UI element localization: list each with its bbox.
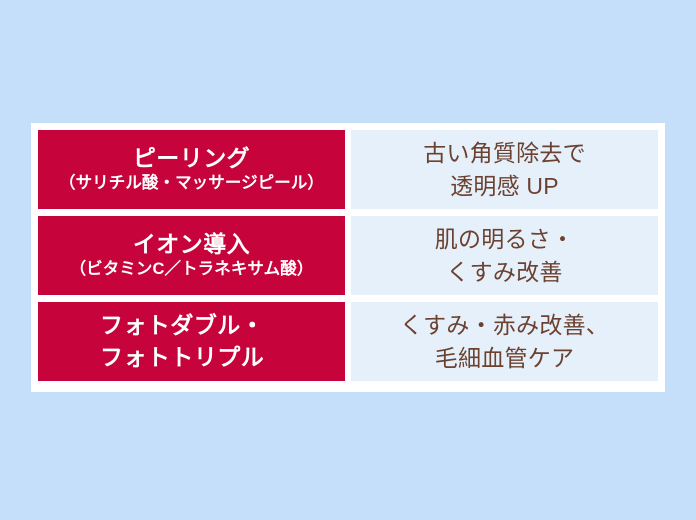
table-row: フォトダブル・ フォトトリプル くすみ・赤み改善、 毛細血管ケア	[38, 302, 658, 381]
treatment-name-main: イオン導入	[133, 230, 250, 258]
treatment-effect-cell: くすみ・赤み改善、 毛細血管ケア	[351, 302, 658, 381]
effect-line-2: 透明感 UP	[450, 170, 559, 203]
treatment-effect-cell: 肌の明るさ・ くすみ改善	[351, 216, 658, 295]
effect-line-1: くすみ・赤み改善、	[400, 309, 609, 342]
effect-line-2: くすみ改善	[446, 256, 562, 289]
treatment-name-sub: フォトトリプル	[100, 342, 264, 374]
table-row: ピーリング （サリチル酸・マッサージピール） 古い角質除去で 透明感 UP	[38, 130, 658, 209]
treatment-name-cell: フォトダブル・ フォトトリプル	[38, 302, 345, 381]
page-root: ピーリング （サリチル酸・マッサージピール） 古い角質除去で 透明感 UP イオ…	[0, 0, 696, 520]
treatment-effect-cell: 古い角質除去で 透明感 UP	[351, 130, 658, 209]
treatment-name-main: フォトダブル・	[100, 310, 264, 342]
treatment-name-sub: （ビタミンC／トラネキサム酸）	[70, 259, 314, 280]
effect-line-1: 古い角質除去で	[423, 137, 586, 170]
treatment-effect-table: ピーリング （サリチル酸・マッサージピール） 古い角質除去で 透明感 UP イオ…	[31, 123, 665, 392]
table-row: イオン導入 （ビタミンC／トラネキサム酸） 肌の明るさ・ くすみ改善	[38, 216, 658, 295]
effect-line-1: 肌の明るさ・	[435, 223, 574, 256]
treatment-name-main: ピーリング	[133, 144, 250, 172]
treatment-name-cell: ピーリング （サリチル酸・マッサージピール）	[38, 130, 345, 209]
treatment-name-sub: （サリチル酸・マッサージピール）	[59, 173, 324, 194]
effect-line-2: 毛細血管ケア	[435, 342, 574, 375]
treatment-name-cell: イオン導入 （ビタミンC／トラネキサム酸）	[38, 216, 345, 295]
